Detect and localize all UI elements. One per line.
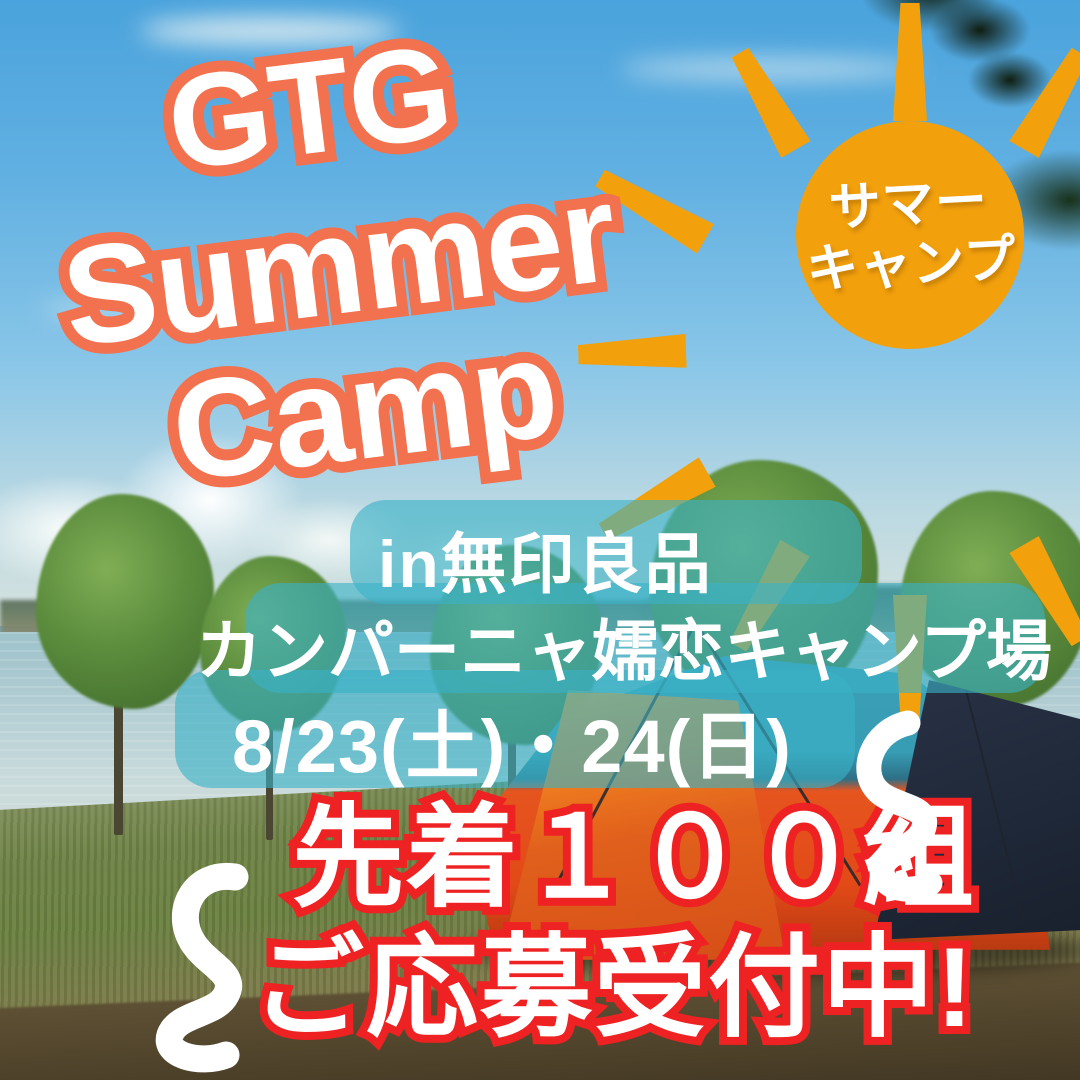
- venue-line-brand: in無印良品: [378, 511, 713, 607]
- sun-ray-icon: [1009, 44, 1080, 158]
- poster-canvas: サマー キャンプ GTG Summer Camp in無印良品 カンパーニャ嬬恋…: [0, 0, 1080, 1080]
- callout-line-apply: ご応募受付中!: [252, 932, 975, 1044]
- squiggle-left-icon: [130, 855, 330, 1075]
- venue-line-site: カンパーニャ嬬恋キャンプ場: [196, 598, 1052, 694]
- cloud-wisp: [40, 300, 260, 318]
- cloud-wisp: [140, 18, 400, 44]
- venue-line-dates: 8/23(土)・24(日): [232, 687, 792, 794]
- sun-badge-line-1: サマー: [802, 169, 1015, 240]
- sun-badge: サマー キャンプ: [690, 10, 1080, 460]
- sun-badge-text: サマー キャンプ: [802, 169, 1018, 300]
- sun-ray-icon: [893, 3, 927, 121]
- sun-ray-icon: [725, 44, 810, 158]
- sun-badge-line-2: キャンプ: [805, 229, 1018, 300]
- squiggle-right-icon: [830, 705, 1010, 905]
